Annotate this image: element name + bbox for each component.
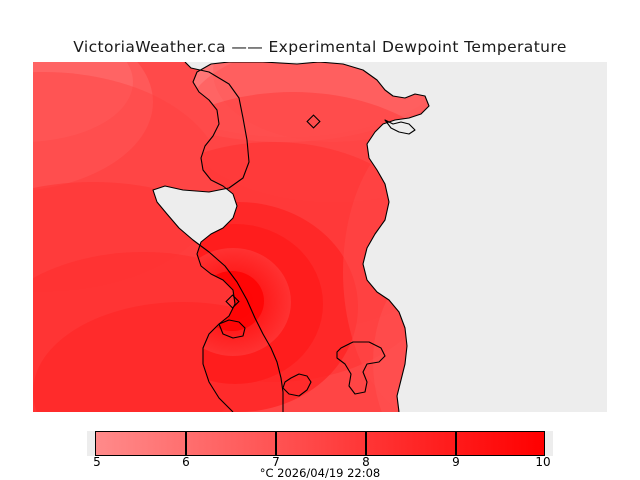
dewpoint-contour-map — [33, 62, 607, 412]
weather-map-panel[interactable] — [33, 62, 607, 412]
page-title: VictoriaWeather.ca —— Experimental Dewpo… — [0, 38, 640, 56]
colorbar — [95, 431, 545, 456]
colorbar-divider — [185, 431, 187, 456]
colorbar-caption: °C 2026/04/19 22:08 — [0, 466, 640, 480]
coastline-inlet-north — [385, 120, 415, 134]
colorbar-divider — [275, 431, 277, 456]
colorbar-gradient — [95, 431, 545, 456]
colorbar-divider — [455, 431, 457, 456]
colorbar-divider — [365, 431, 367, 456]
